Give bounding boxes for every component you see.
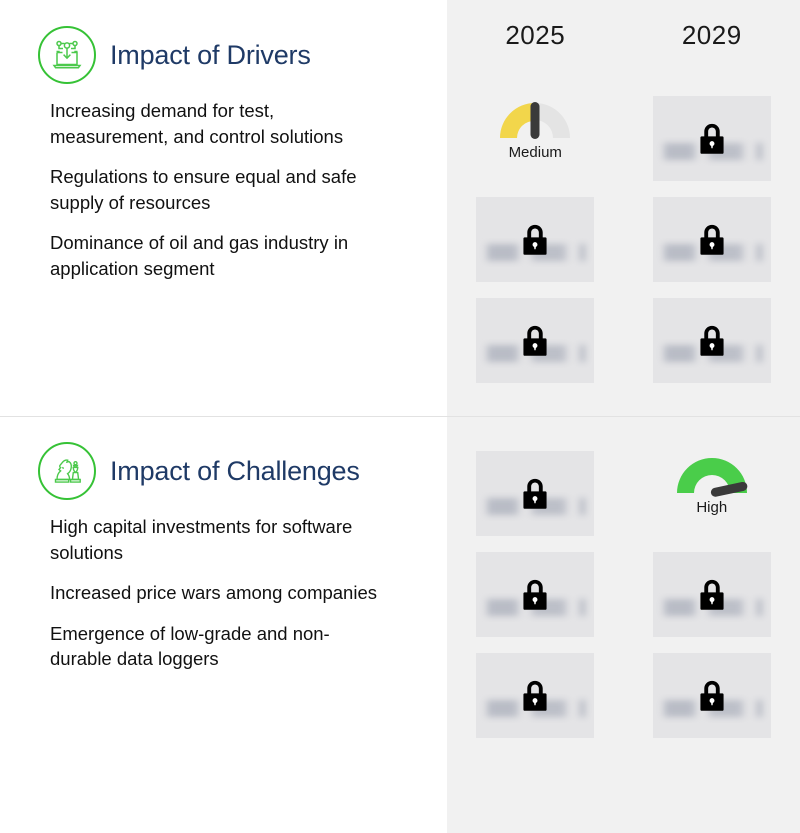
impact-cell-challenges-1-2029[interactable] xyxy=(624,546,800,647)
chess-pieces-icon xyxy=(38,442,96,500)
challenges-bullet-list: High capital investments for software so… xyxy=(0,500,447,672)
lock-icon xyxy=(696,678,728,714)
impact-cell-drivers-1-2025[interactable] xyxy=(447,191,624,292)
gauge-label: Medium xyxy=(509,144,562,161)
locked-cell[interactable] xyxy=(653,298,771,383)
table-row: High xyxy=(447,445,800,546)
locked-cell[interactable] xyxy=(476,451,594,536)
section-header-drivers: Impact of Drivers xyxy=(0,0,447,84)
impact-cell-drivers-1-2029[interactable] xyxy=(624,191,800,292)
locked-cell[interactable] xyxy=(653,96,771,181)
list-item: Emergence of low-grade and non-durable d… xyxy=(50,621,380,672)
impact-grid-challenges: High xyxy=(447,445,800,748)
impact-cell-challenges-2-2025[interactable] xyxy=(447,647,624,748)
lock-icon xyxy=(519,222,551,258)
impact-cell-drivers-2-2029[interactable] xyxy=(624,292,800,393)
impact-grid-drivers: Medium xyxy=(447,90,800,393)
laptop-download-circuit-icon xyxy=(38,26,96,84)
table-row xyxy=(447,647,800,748)
list-item: Dominance of oil and gas industry in app… xyxy=(50,230,380,281)
locked-cell[interactable] xyxy=(653,552,771,637)
list-item: Increasing demand for test, measurement,… xyxy=(50,98,380,149)
lock-icon xyxy=(519,678,551,714)
impact-cell-drivers-0-2025: Medium xyxy=(447,90,624,191)
lock-icon xyxy=(519,476,551,512)
lock-icon xyxy=(696,222,728,258)
table-row xyxy=(447,546,800,647)
gauge-label: High xyxy=(696,499,727,516)
impact-cell-challenges-0-2029: High xyxy=(624,445,800,546)
impact-cell-drivers-2-2025[interactable] xyxy=(447,292,624,393)
lock-icon xyxy=(696,577,728,613)
year-header-row: 2025 2029 xyxy=(447,20,800,70)
impact-cell-challenges-1-2025[interactable] xyxy=(447,546,624,647)
gauge-medium: Medium xyxy=(476,96,594,161)
locked-cell[interactable] xyxy=(653,197,771,282)
locked-cell[interactable] xyxy=(476,653,594,738)
column-header-2025: 2025 xyxy=(447,20,624,70)
impact-cell-challenges-2-2029[interactable] xyxy=(624,647,800,748)
list-item: Regulations to ensure equal and safe sup… xyxy=(50,164,380,215)
locked-cell[interactable] xyxy=(476,197,594,282)
gauge-high: High xyxy=(653,451,771,516)
impact-cell-challenges-0-2025[interactable] xyxy=(447,445,624,546)
section-challenges: Impact of Challenges High capital invest… xyxy=(0,416,447,687)
list-item: Increased price wars among companies xyxy=(50,580,380,606)
gauge-dial-icon xyxy=(671,451,753,497)
lock-icon xyxy=(519,323,551,359)
table-row: Medium xyxy=(447,90,800,191)
drivers-bullet-list: Increasing demand for test, measurement,… xyxy=(0,84,447,281)
section-title-drivers: Impact of Drivers xyxy=(110,40,311,71)
section-title-challenges: Impact of Challenges xyxy=(110,456,360,487)
gauge-dial-icon xyxy=(494,96,576,142)
lock-icon xyxy=(696,121,728,157)
table-row xyxy=(447,191,800,292)
locked-cell[interactable] xyxy=(653,653,771,738)
impact-cell-drivers-0-2029[interactable] xyxy=(624,90,800,191)
locked-cell[interactable] xyxy=(476,298,594,383)
lock-icon xyxy=(696,323,728,359)
lock-icon xyxy=(519,577,551,613)
list-item: High capital investments for software so… xyxy=(50,514,380,565)
locked-cell[interactable] xyxy=(476,552,594,637)
section-drivers: Impact of Drivers Increasing demand for … xyxy=(0,0,447,296)
section-header-challenges: Impact of Challenges xyxy=(0,416,447,500)
table-row xyxy=(447,292,800,393)
column-header-2029: 2029 xyxy=(624,20,800,70)
